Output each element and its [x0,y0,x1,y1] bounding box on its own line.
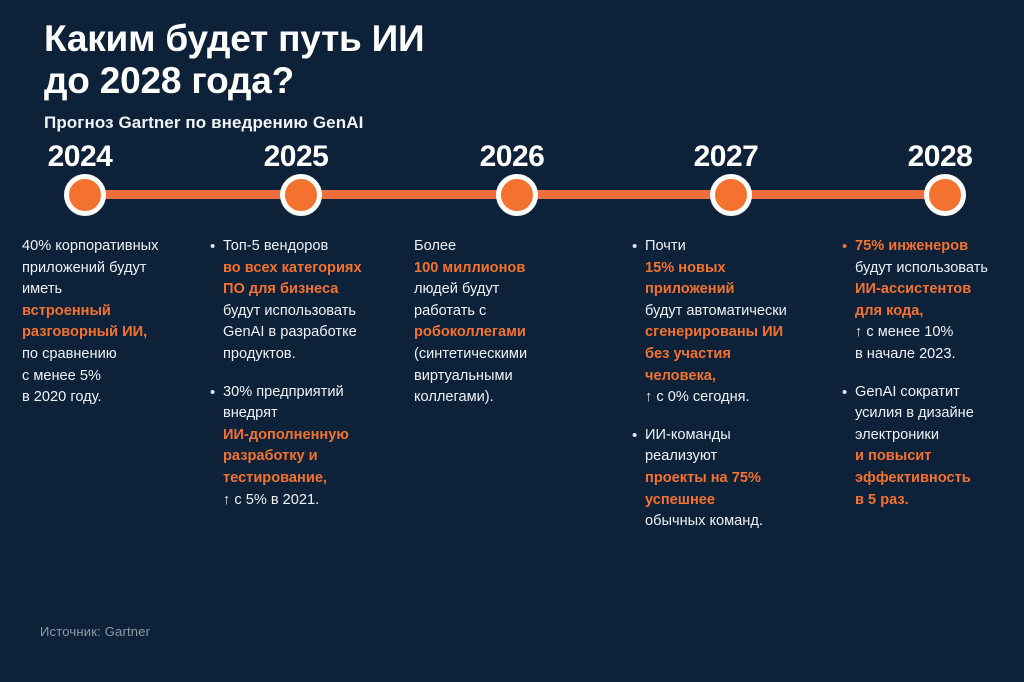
highlight-text: встроенный разговорный ИИ, [22,303,147,341]
timeline-year-label: 2025 [264,140,329,174]
page-subtitle: Прогноз Gartner по внедрению GenAI [44,113,684,133]
milestone-item: •GenAI сократит усилия в дизайне электро… [842,382,1010,512]
highlight-text: сгенерированы ИИ без участия человека, [645,324,783,383]
milestone-column-2028: •75% инженеров будут использовать ИИ-асс… [842,236,1010,527]
timeline-dot-icon [280,174,322,216]
milestone-text: Более 100 миллионов людей будут работать… [414,236,614,409]
bullet-icon: • [842,382,847,404]
body-text: GenAI сократит усилия в дизайне электрон… [855,384,974,443]
body-text: Более [414,238,456,254]
highlight-text: 75% инженеров [855,238,968,254]
timeline-dot-icon [64,174,106,216]
source-note: Источник: Gartner [40,624,150,639]
body-text: (синтетическими виртуальными коллегами). [414,346,527,405]
body-text: ИИ-команды реализуют [645,427,731,465]
highlight-text: 15% новых приложений [645,260,735,298]
milestone-text: 40% корпоративных приложений будут иметь… [22,236,202,409]
body-text: 30% предприятий внедрят [223,384,344,422]
bullet-icon: • [632,236,637,258]
body-text: ↑ с 0% сегодня. [645,389,750,405]
bullet-icon: • [632,425,637,447]
body-text: по сравнению с менее 5% в 2020 году. [22,346,117,405]
milestone-text: ИИ-команды реализуют проекты на 75% успе… [645,425,827,533]
milestone-item: •ИИ-команды реализуют проекты на 75% усп… [632,425,827,533]
milestone-text: 30% предприятий внедрят ИИ-дополненную р… [223,382,400,512]
milestone-text: Топ-5 вендоров во всех категориях ПО для… [223,236,400,366]
body-text: будут использовать [855,260,988,276]
timeline-dot-icon [496,174,538,216]
highlight-text: ИИ-ассистентов для кода, [855,281,971,319]
timeline-year-label: 2027 [694,140,759,174]
timeline: 20242025202620272028 [0,140,1024,226]
bullet-icon: • [210,236,215,258]
highlight-text: робоколлегами [414,324,526,340]
infographic-canvas: Каким будет путь ИИ до 2028 года? Прогно… [0,0,1024,682]
body-text: Почти [645,238,686,254]
milestone-column-2025: •Топ-5 вендоров во всех категориях ПО дл… [210,236,400,527]
milestone-item: 40% корпоративных приложений будут иметь… [22,236,202,409]
highlight-text: ИИ-дополненную разработку и тестирование… [223,427,349,486]
milestone-text: Почти 15% новых приложений будут автомат… [645,236,827,409]
page-title: Каким будет путь ИИ до 2028 года? [44,18,684,102]
body-text: людей будут работать с [414,281,499,319]
milestone-item: •Топ-5 вендоров во всех категориях ПО дл… [210,236,400,366]
body-text: 40% корпоративных приложений будут иметь [22,238,158,297]
timeline-year-label: 2024 [48,140,113,174]
timeline-dot-icon [710,174,752,216]
milestone-text: GenAI сократит усилия в дизайне электрон… [855,382,1010,512]
milestone-item: •30% предприятий внедрят ИИ-дополненную … [210,382,400,512]
timeline-year-label: 2026 [480,140,545,174]
milestone-text: 75% инженеров будут использовать ИИ-асси… [855,236,1010,366]
milestone-column-2024: 40% корпоративных приложений будут иметь… [22,236,202,425]
bullet-icon: • [210,382,215,404]
milestone-item: •Почти 15% новых приложений будут автома… [632,236,827,409]
milestone-item: Более 100 миллионов людей будут работать… [414,236,614,409]
body-text: будут использовать GenAI в разработке пр… [223,303,357,362]
body-text: Топ-5 вендоров [223,238,328,254]
bullet-icon: • [842,236,847,258]
body-text: обычных команд. [645,513,763,529]
body-text: ↑ с менее 10% в начале 2023. [855,324,956,362]
body-text: ↑ с 5% в 2021. [223,492,319,508]
milestone-columns: 40% корпоративных приложений будут иметь… [0,236,1024,596]
milestone-column-2027: •Почти 15% новых приложений будут автома… [632,236,827,549]
milestone-item: •75% инженеров будут использовать ИИ-асс… [842,236,1010,366]
highlight-text: и повысит эффективность в 5 раз. [855,448,971,507]
header: Каким будет путь ИИ до 2028 года? Прогно… [44,18,684,133]
highlight-text: во всех категориях ПО для бизнеса [223,260,362,298]
highlight-text: проекты на 75% успешнее [645,470,761,508]
milestone-column-2026: Более 100 миллионов людей будут работать… [414,236,614,425]
highlight-text: 100 миллионов [414,260,525,276]
timeline-dot-icon [924,174,966,216]
timeline-year-label: 2028 [908,140,973,174]
body-text: будут автоматически [645,303,787,319]
